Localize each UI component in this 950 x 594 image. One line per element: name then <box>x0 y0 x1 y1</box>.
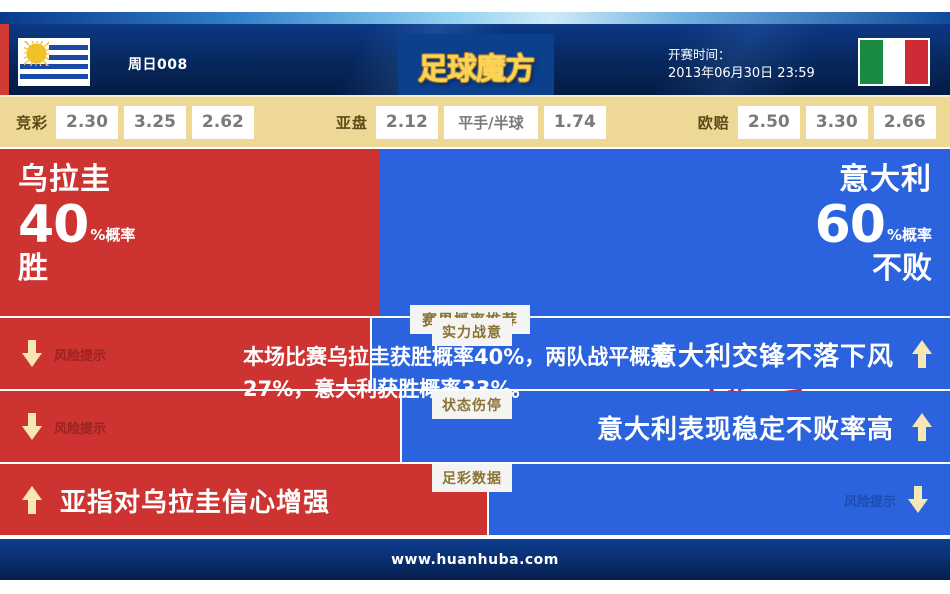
odds-cell-jingcai-3[interactable]: 2.62 <box>192 106 254 139</box>
analysis-text-strength: 意大利交锋不落下风 <box>651 336 894 373</box>
site-logo: 足球魔方 <box>398 34 554 95</box>
row-badge-strength: 实力战意 <box>432 318 512 346</box>
odds-label-oupei: 欧赔 <box>698 112 730 133</box>
down-arrow-icon <box>22 413 42 441</box>
home-predicted-result: 胜 <box>18 251 135 287</box>
odds-cell-jingcai-1[interactable]: 2.30 <box>56 106 118 139</box>
odds-cell-yapan-handicap[interactable]: 平手/半球 <box>444 106 538 139</box>
home-prediction: 乌拉圭 40 %概率 胜 <box>18 161 135 287</box>
up-arrow-icon <box>22 486 42 514</box>
risk-label-left-2: 风险提示 <box>54 418 106 437</box>
home-probability-suffix: %概率 <box>90 228 135 251</box>
site-logo-text: 足球魔方 <box>418 44 534 88</box>
row-badge-form: 状态伤停 <box>432 391 512 419</box>
header-accent-bar <box>0 24 9 95</box>
away-probability-suffix: %概率 <box>887 228 932 251</box>
odds-cell-oupei-3[interactable]: 2.66 <box>874 106 936 139</box>
analysis-row-betting: 足彩数据 亚指对乌拉圭信心增强 风险提示 <box>0 464 950 535</box>
odds-cell-yapan-2[interactable]: 1.74 <box>544 106 606 139</box>
down-arrow-icon <box>908 486 928 514</box>
header-bar: 周日008 足球魔方 开赛时间： 2013年06月30日 23:59 <box>0 12 950 95</box>
odds-cell-jingcai-2[interactable]: 3.25 <box>124 106 186 139</box>
away-probability-value: 60 <box>815 199 885 251</box>
up-arrow-icon <box>912 340 932 368</box>
italy-flag <box>858 38 930 86</box>
risk-indicator-right-3: 风险提示 <box>844 486 928 514</box>
kickoff-time: 2013年06月30日 23:59 <box>668 64 815 83</box>
kickoff-info: 开赛时间： 2013年06月30日 23:59 <box>668 45 815 83</box>
risk-indicator-left-2: 风险提示 <box>22 413 106 441</box>
analysis-row-form: 状态伤停 风险提示 意大利表现稳定不败率高 <box>0 391 950 462</box>
match-number: 周日008 <box>128 54 188 74</box>
away-team-name: 意大利 <box>815 161 932 199</box>
row-badge-betting: 足彩数据 <box>432 464 512 492</box>
odds-cell-oupei-1[interactable]: 2.50 <box>738 106 800 139</box>
footer-url[interactable]: www.huanhuba.com <box>391 552 559 568</box>
risk-indicator-left-1: 风险提示 <box>22 340 106 368</box>
home-probability-value: 40 <box>18 199 88 251</box>
odds-bar: 竞彩 2.30 3.25 2.62 亚盘 2.12 平手/半球 1.74 欧赔 … <box>0 95 950 147</box>
prediction-graphic: 周日008 足球魔方 开赛时间： 2013年06月30日 23:59 竞彩 2.… <box>0 0 950 594</box>
uruguay-flag <box>18 38 90 86</box>
risk-label-right-3: 风险提示 <box>844 491 896 510</box>
odds-group-jingcai: 竞彩 2.30 3.25 2.62 <box>16 106 260 139</box>
analysis-text-betting: 亚指对乌拉圭信心增强 <box>60 482 330 519</box>
down-arrow-icon <box>22 340 42 368</box>
analysis-text-form: 意大利表现稳定不败率高 <box>597 409 894 446</box>
odds-group-yapan: 亚盘 2.12 平手/半球 1.74 <box>336 106 612 139</box>
risk-label-left-1: 风险提示 <box>54 345 106 364</box>
odds-cell-yapan-1[interactable]: 2.12 <box>376 106 438 139</box>
away-prediction: 意大利 60 %概率 不败 <box>815 161 932 287</box>
odds-group-oupei: 欧赔 2.50 3.30 2.66 <box>698 106 942 139</box>
away-predicted-result: 不败 <box>815 251 932 287</box>
kickoff-label: 开赛时间： <box>668 45 815 64</box>
uruguay-sun-icon <box>28 45 45 62</box>
odds-cell-oupei-2[interactable]: 3.30 <box>806 106 868 139</box>
header-glow <box>0 12 950 24</box>
up-arrow-icon <box>912 413 932 441</box>
footer-bar: www.huanhuba.com <box>0 539 950 580</box>
main-prediction-panel: 乌拉圭 40 %概率 胜 赛果概率推荐 本场比赛乌拉圭获胜概率40%，两队战平概… <box>0 149 950 316</box>
odds-label-yapan: 亚盘 <box>336 112 368 133</box>
home-team-name: 乌拉圭 <box>18 161 135 199</box>
odds-label-jingcai: 竞彩 <box>16 112 48 133</box>
